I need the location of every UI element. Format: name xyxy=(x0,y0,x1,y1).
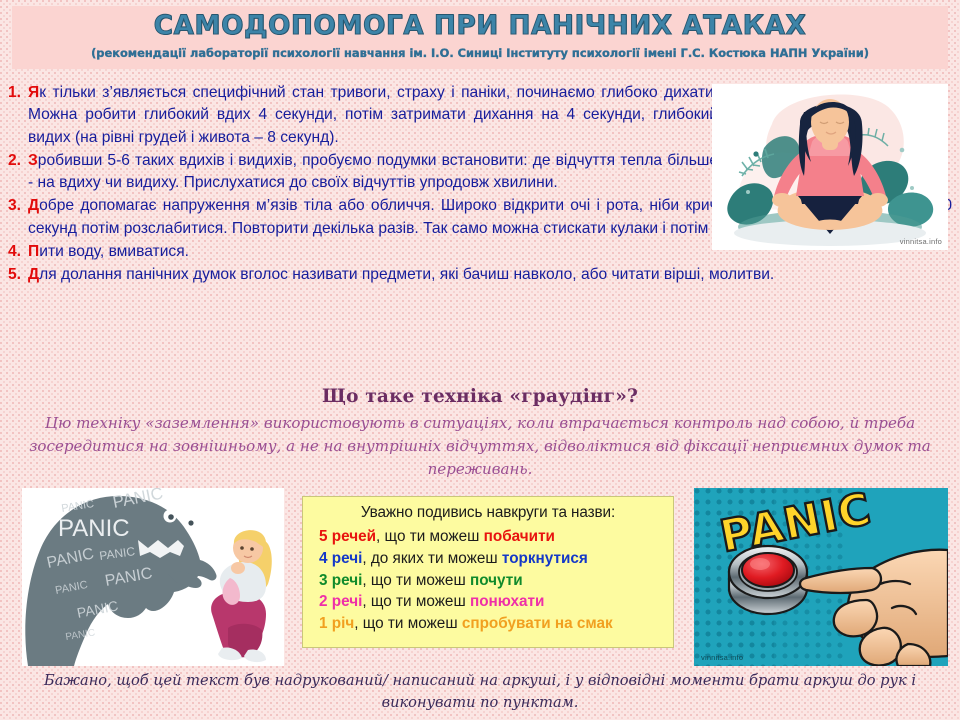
list-item-initial: Д xyxy=(28,197,39,214)
image-watermark: vinnitsa.info xyxy=(701,653,743,662)
sense-middle: , що ти можеш xyxy=(354,615,462,632)
sense-noun: речі xyxy=(332,550,363,567)
sense-action: торкнутися xyxy=(502,550,588,567)
panic-button-illustration: PANIC vinnitsa.info xyxy=(694,488,948,666)
sense-row: 1 річ, що ти можеш спробувати на смак xyxy=(311,613,665,635)
sense-row: 5 речей, що ти можеш побачити xyxy=(311,526,665,548)
list-item-number: 3. xyxy=(8,195,21,217)
grounding-box-title: Уважно подивись навкруги та назви: xyxy=(311,504,665,522)
sense-middle: , до яких ти можеш xyxy=(362,550,502,567)
sense-noun: речі xyxy=(332,572,363,589)
list-item-text: Для долання панічних думок вголос назива… xyxy=(28,264,952,286)
sense-middle: , що ти можеш xyxy=(362,572,470,589)
grounding-section-description: Цю техніку «заземлення» використовують в… xyxy=(14,412,946,481)
sense-middle: , що ти можеш xyxy=(362,593,470,610)
list-item-text: Як тільки з’являється специфічний стан т… xyxy=(28,82,718,149)
image-watermark: vinnitsa.info xyxy=(900,237,942,246)
sense-action: спробувати на смак xyxy=(462,615,613,632)
footer-note: Бажано, щоб цей текст був надрукований/ … xyxy=(18,670,942,714)
list-item-initial: Я xyxy=(28,84,39,101)
list-item-body: ля долання панічних думок вголос називат… xyxy=(39,266,774,283)
grounding-senses-box: Уважно подивись навкруги та назви: 5 реч… xyxy=(302,496,674,648)
sense-action: понюхати xyxy=(470,593,544,610)
list-item-body: ити воду, вмиватися. xyxy=(39,243,189,260)
list-item-number: 1. xyxy=(8,82,21,104)
list-item: 5. Для долання панічних думок вголос наз… xyxy=(8,264,952,286)
sense-row: 3 речі, що ти можеш почути xyxy=(311,570,665,592)
header-band: САМОДОПОМОГА ПРИ ПАНІЧНИХ АТАКАХ (рекоме… xyxy=(12,6,948,69)
panic-monster-svg: PANIC PANIC PANIC PANIC PANIC PANIC PANI… xyxy=(22,488,284,666)
sense-count: 2 xyxy=(319,593,328,610)
list-item-text: Зробивши 5-6 таких вдихів і видихів, про… xyxy=(28,150,718,195)
meditation-illustration: vinnitsa.info xyxy=(712,84,948,250)
sense-row: 4 речі, до яких ти можеш торкнутися xyxy=(311,548,665,570)
svg-text:PANIC: PANIC xyxy=(58,515,130,542)
list-item-initial: П xyxy=(28,243,39,260)
page-subtitle: (рекомендації лабораторії психології нав… xyxy=(19,46,941,60)
sense-count: 4 xyxy=(319,550,328,567)
sense-noun: речей xyxy=(332,528,376,545)
sense-action: побачити xyxy=(484,528,555,545)
sense-middle: , що ти можеш xyxy=(376,528,484,545)
sense-noun: річ xyxy=(332,615,354,632)
sense-count: 5 xyxy=(319,528,328,545)
list-item-initial: З xyxy=(28,152,38,169)
sense-count: 3 xyxy=(319,572,328,589)
list-item-number: 4. xyxy=(8,241,21,263)
list-item-initial: Д xyxy=(28,266,39,283)
panic-monster-illustration: PANIC PANIC PANIC PANIC PANIC PANIC PANI… xyxy=(22,488,284,666)
panic-button-svg: PANIC xyxy=(694,488,948,666)
list-item-number: 2. xyxy=(8,150,21,172)
list-item-body: робивши 5-6 таких вдихів і видихів, проб… xyxy=(28,152,718,191)
list-item-number: 5. xyxy=(8,264,21,286)
sense-action: почути xyxy=(470,572,523,589)
sense-count: 1 xyxy=(319,615,328,632)
meditation-illustration-svg xyxy=(712,84,948,250)
sense-row: 2 речі, що ти можеш понюхати xyxy=(311,591,665,613)
page-title: САМОДОПОМОГА ПРИ ПАНІЧНИХ АТАКАХ xyxy=(17,11,944,41)
sense-noun: речі xyxy=(332,593,363,610)
list-item-body: к тільки з’являється специфічний стан тр… xyxy=(28,84,718,146)
grounding-section-heading: Що таке техніка «граудінг»? xyxy=(0,386,960,407)
